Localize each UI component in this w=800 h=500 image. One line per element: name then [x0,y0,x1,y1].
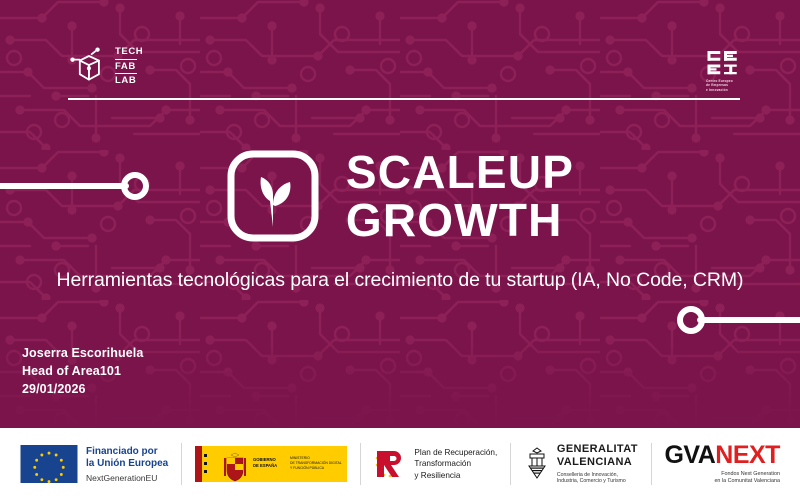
tfl-line-2: FAB [115,61,143,73]
ceei-caption: Centro Europeo de Empresas e Innovación [706,79,733,92]
tfl-rule-1 [115,59,137,60]
header-divider [68,98,740,100]
presentation-slide: TECH FAB LAB [0,0,800,500]
tfl-line-1: TECH [115,46,143,58]
plan-recuperacion-r-icon [373,448,407,480]
footer-divider-1 [181,443,182,485]
cube-with-node-icon [68,46,108,86]
gva-sub-2: en la Comunitat Valenciana [664,478,780,485]
generalitat-text: GENERALITAT VALENCIANA Conselleria de In… [557,443,638,486]
slide-header: TECH FAB LAB [0,0,800,100]
gva-word-red: NEXT [715,441,780,469]
gva-next-wordmark: GVANEXT [664,443,780,468]
ceei-mark-icon [706,50,742,76]
european-union-flag-icon [20,445,78,483]
plan-recuperacion-logo: Plan de Recuperación, Transformación y R… [373,447,497,482]
ceei-caption-3: e Innovación [706,88,733,92]
ceei-logo: Centro Europeo de Empresas e Innovación [706,50,742,92]
title-line-2: GROWTH [346,196,574,244]
eu-line-1: Financiado por [86,446,168,459]
generalitat-valenciana-crest-icon [524,447,550,481]
gva-next-logo: GVANEXT Fondos Next Generation en la Com… [664,443,780,486]
ministry-line-2: DE TRANSFORMACIÓN DIGITAL [290,460,342,465]
ministry-line-1: MINISTERIO [290,456,310,460]
page-title: SCALEUP GROWTH [346,148,574,245]
generalitat-line-1: GENERALITAT [557,443,638,456]
slide-subtitle: Herramientas tecnológicas para el crecim… [0,269,800,292]
footer-divider-3 [510,443,511,485]
tech-fab-lab-wordmark: TECH FAB LAB [115,46,143,87]
tfl-rule-2 [115,73,137,74]
generalitat-dept-2: Industria, Comercio y Turismo [557,478,638,485]
gobierno-line-1: GOBIERNO [253,457,277,462]
speaker-name: Joserra Escorihuela [22,345,143,363]
spain-government-flag-icon: GOBIERNO DE ESPAÑA MINISTERIO DE TRANSFO… [195,446,347,482]
ministry-line-3: Y FUNCIÓN PÚBLICA [290,465,325,470]
generalitat-dept-1: Conselleria de Innovación, [557,472,638,479]
gobierno-line-2: DE ESPAÑA [253,463,277,468]
generalitat-line-2: VALENCIANA [557,456,638,469]
sprout-in-rounded-square-icon [226,149,320,243]
tech-fab-lab-logo: TECH FAB LAB [68,46,143,87]
plan-line-3: y Resiliencia [414,470,497,482]
speaker-role: Head of Area101 [22,363,143,381]
tfl-line-3: LAB [115,75,143,87]
eu-funding-logo: Financiado por la Unión Europea NextGene… [20,445,168,483]
footer-divider-4 [651,443,652,485]
plan-line-2: Transformación [414,458,497,470]
generalitat-valenciana-logo: GENERALITAT VALENCIANA Conselleria de In… [524,443,638,486]
gobierno-de-espana-logo: GOBIERNO DE ESPAÑA MINISTERIO DE TRANSFO… [195,446,347,482]
plan-line-1: Plan de Recuperación, [414,447,497,459]
gva-word-black: GVA [664,441,715,469]
speaker-date: 29/01/2026 [22,381,143,399]
circuit-node-right [676,305,800,335]
gva-next-subtext: Fondos Next Generation en la Comunitat V… [664,471,780,486]
sponsor-footer: Financiado por la Unión Europea NextGene… [0,428,800,500]
gva-sub-1: Fondos Next Generation [664,471,780,478]
speaker-info: Joserra Escorihuela Head of Area101 29/0… [22,345,143,398]
eu-line-3: NextGenerationEU [86,473,168,483]
plan-recuperacion-text: Plan de Recuperación, Transformación y R… [414,447,497,482]
slide-title-block: SCALEUP GROWTH [0,148,800,245]
eu-funding-text: Financiado por la Unión Europea NextGene… [86,446,168,483]
title-line-1: SCALEUP [346,146,574,198]
eu-line-2: la Unión Europea [86,458,168,471]
footer-divider-2 [360,443,361,485]
